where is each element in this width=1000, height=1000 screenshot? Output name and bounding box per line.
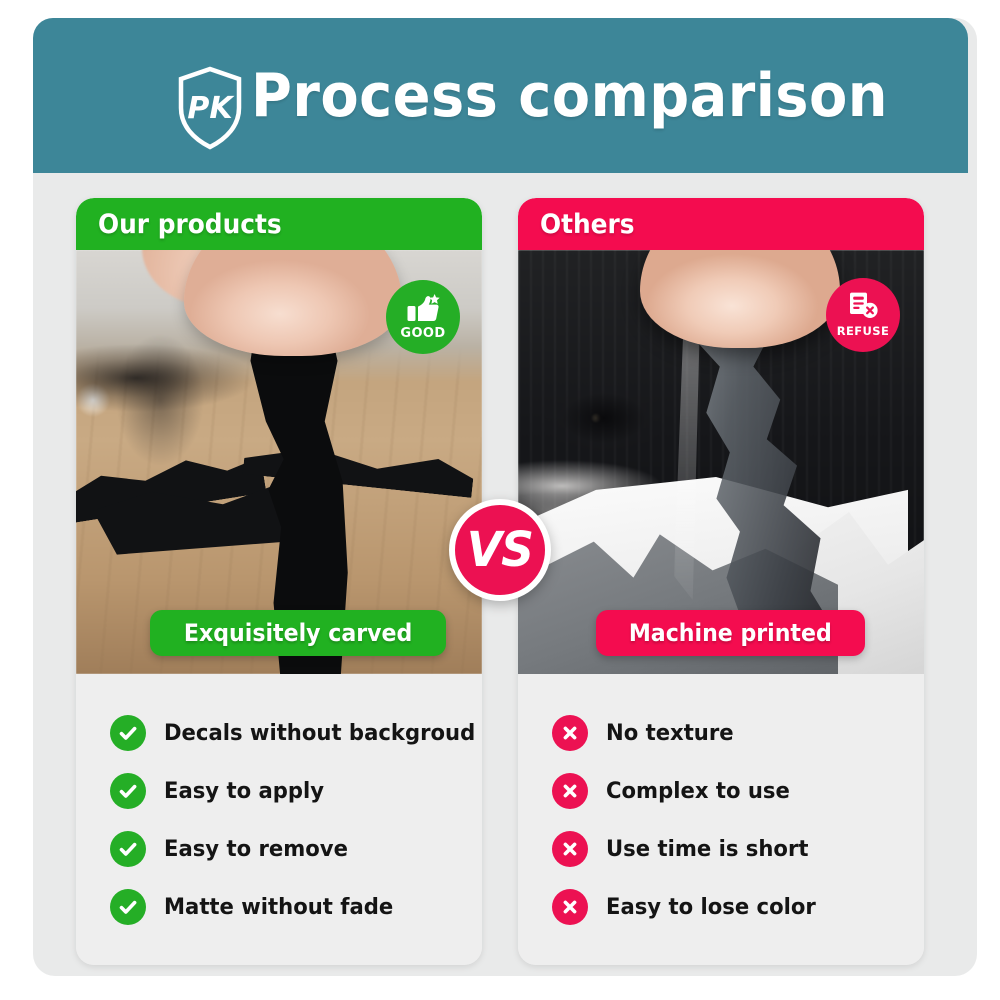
list-item: Use time is short	[552, 820, 924, 878]
close-icon	[552, 715, 588, 751]
column-header-our-products: Our products	[76, 198, 482, 250]
document-reject-icon	[847, 292, 879, 322]
status-badge-good: GOOD	[386, 280, 460, 354]
badge-label: REFUSE	[837, 324, 889, 338]
list-item-label: No texture	[606, 720, 734, 746]
shield-icon: PK	[176, 66, 244, 150]
svg-text:PK: PK	[187, 91, 235, 126]
column-header-label: Others	[540, 209, 635, 240]
list-item: Easy to remove	[110, 820, 482, 878]
list-item: Easy to apply	[110, 762, 482, 820]
list-item-label: Use time is short	[606, 836, 808, 862]
check-icon	[110, 773, 146, 809]
column-header-others: Others	[518, 198, 924, 250]
page-header: PK Process comparison	[33, 18, 968, 173]
caption-exquisitely-carved: Exquisitely carved	[150, 610, 446, 656]
caption-label: Machine printed	[629, 619, 832, 647]
list-item-label: Matte without fade	[164, 894, 393, 920]
list-item: Decals without backgroud	[110, 704, 482, 762]
list-item-label: Complex to use	[606, 778, 790, 804]
vs-badge: VS	[449, 499, 551, 601]
badge-label: GOOD	[400, 326, 445, 341]
close-icon	[552, 889, 588, 925]
photo-our-products: GOOD Exquisitely carved	[76, 250, 482, 674]
list-item: Complex to use	[552, 762, 924, 820]
check-icon	[110, 715, 146, 751]
feature-list-our-products: Decals without backgroud Easy to apply	[76, 674, 482, 965]
thumbs-up-icon	[406, 294, 440, 324]
column-our-products: Our products GOOD	[76, 198, 482, 965]
list-item: Easy to lose color	[552, 878, 924, 936]
caption-label: Exquisitely carved	[184, 619, 412, 647]
feature-list-others: No texture Complex to use	[518, 674, 924, 965]
list-item: Matte without fade	[110, 878, 482, 936]
close-icon	[552, 831, 588, 867]
list-item-label: Easy to lose color	[606, 894, 816, 920]
status-badge-refuse: REFUSE	[826, 278, 900, 352]
photo-others: REFUSE Machine printed	[518, 250, 924, 674]
list-item-label: Easy to remove	[164, 836, 348, 862]
caption-machine-printed: Machine printed	[596, 610, 865, 656]
vs-label: VS	[467, 522, 533, 578]
check-icon	[110, 889, 146, 925]
close-icon	[552, 773, 588, 809]
column-header-label: Our products	[98, 209, 282, 240]
column-others: Others	[518, 198, 924, 965]
list-item: No texture	[552, 704, 924, 762]
page-title: Process comparison	[251, 61, 888, 131]
list-item-label: Easy to apply	[164, 778, 324, 804]
comparison-infographic: PK Process comparison Our products	[0, 0, 1000, 1000]
list-item-label: Decals without backgroud	[164, 720, 475, 746]
check-icon	[110, 831, 146, 867]
thumb	[184, 250, 402, 356]
